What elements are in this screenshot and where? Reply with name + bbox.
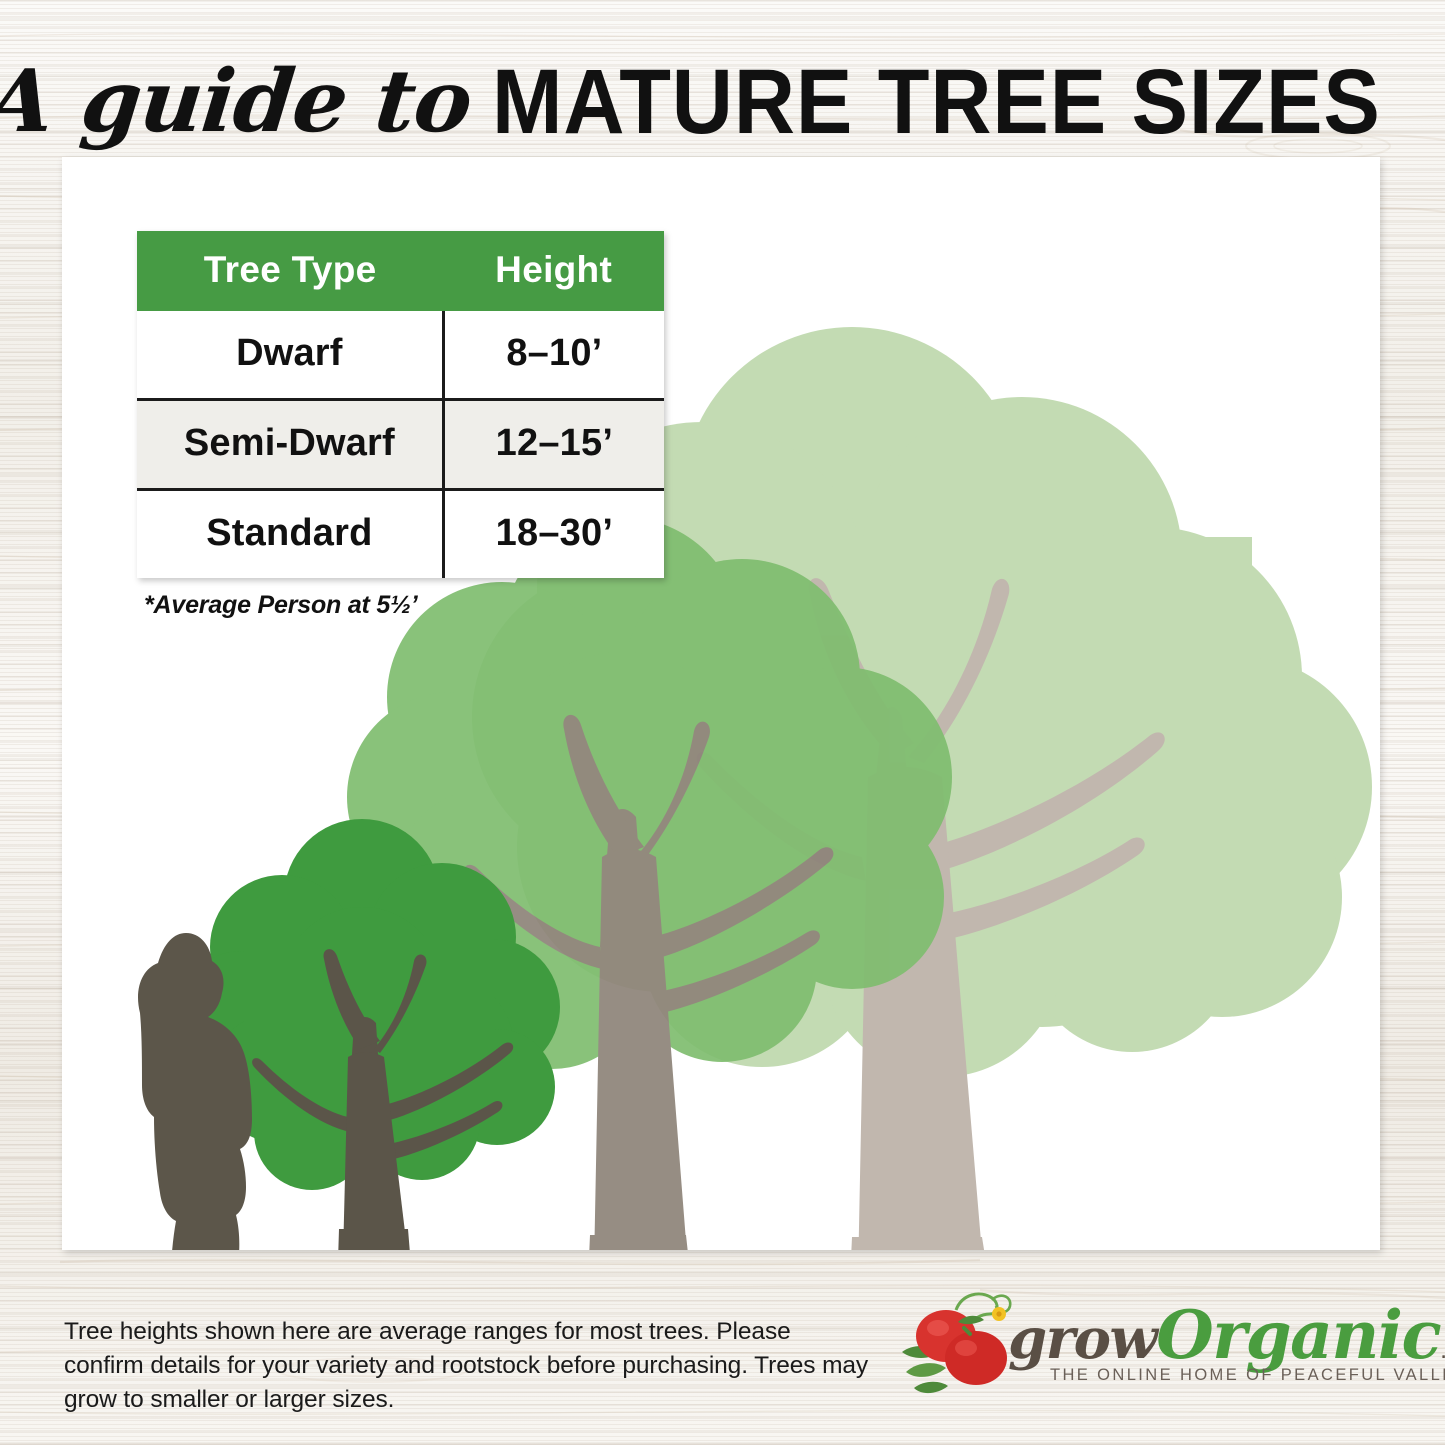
table-header-row: Tree Type Height: [137, 231, 664, 311]
disclaimer-text: Tree heights shown here are average rang…: [64, 1315, 874, 1416]
content-card-clip: Tree Type Height Dwarf 8–10’ Semi-Dwarf …: [62, 157, 1380, 1250]
column-header-tree-type: Tree Type: [137, 231, 443, 311]
table-row: Dwarf 8–10’: [137, 311, 664, 400]
logo-wordmark: growOrganic.COM: [1008, 1296, 1408, 1406]
logo-tagline: THE ONLINE HOME OF PEACEFUL VALLEY: [1050, 1366, 1445, 1385]
cell-height: 8–10’: [443, 311, 664, 400]
title-script-text: A guide to: [0, 59, 475, 145]
cell-tree-type: Dwarf: [137, 311, 443, 400]
infographic-poster: A guide to MATURE TREE SIZES: [0, 0, 1445, 1445]
cell-height: 18–30’: [443, 490, 664, 579]
cell-tree-type: Semi-Dwarf: [137, 400, 443, 490]
logo-organic-text: Organic: [1156, 1296, 1440, 1374]
table-row: Standard 18–30’: [137, 490, 664, 579]
column-header-height: Height: [443, 231, 664, 311]
table-row: Semi-Dwarf 12–15’: [137, 400, 664, 490]
average-person-footnote: *Average Person at 5½’: [144, 591, 418, 620]
tree-size-table: Tree Type Height Dwarf 8–10’ Semi-Dwarf …: [137, 231, 664, 578]
page-title: A guide to MATURE TREE SIZES: [0, 48, 1445, 156]
cell-height: 12–15’: [443, 400, 664, 490]
title-caps-text: MATURE TREE SIZES: [492, 56, 1381, 148]
cell-tree-type: Standard: [137, 490, 443, 579]
brand-logo[interactable]: growOrganic.COM THE ONLINE HOME OF PEACE…: [900, 1288, 1410, 1418]
tomato-illustration-icon: [900, 1288, 1020, 1406]
content-card: Tree Type Height Dwarf 8–10’ Semi-Dwarf …: [62, 157, 1380, 1250]
logo-com-text: .COM: [1440, 1336, 1445, 1364]
logo-grow-text: grow: [1008, 1306, 1156, 1372]
